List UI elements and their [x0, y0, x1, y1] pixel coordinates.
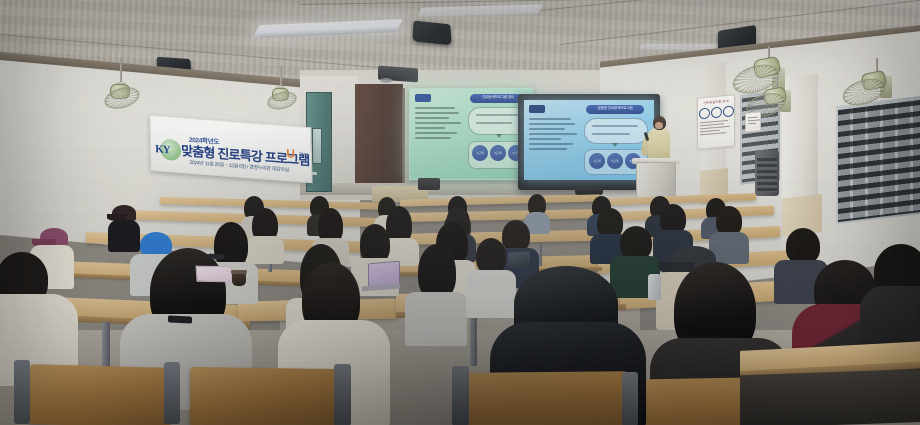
banner-content: KY 2024학년도 맞춤형 진로특강 프로그램 2024년 11월 25일 ~… [150, 116, 311, 182]
slide-badge [415, 94, 431, 102]
poster-line [748, 119, 760, 121]
slide-text-line [415, 127, 445, 129]
wall-panel-dark [355, 84, 403, 192]
fan-rod [280, 66, 282, 88]
slide-text-line [529, 128, 565, 130]
slide-rounded-box [584, 118, 648, 144]
person-torso [466, 270, 516, 318]
lecture-chair[interactable] [468, 371, 628, 425]
poster-circle-row [698, 105, 734, 119]
slide-step-label: 2단계 [490, 145, 506, 161]
smartphone [168, 315, 192, 323]
person-hair [476, 238, 506, 274]
poster-title: 진로취업지원 안내 [698, 98, 734, 105]
slide-text-line [529, 138, 561, 140]
slide-text-line [529, 143, 573, 145]
person-torso [405, 292, 467, 346]
slide-badge [529, 105, 545, 113]
desk-leg [102, 322, 110, 370]
slide-text-line [415, 132, 457, 134]
university-logo: KY [155, 138, 181, 164]
person-hair [620, 226, 652, 260]
slide-step-label: 1단계 [472, 145, 488, 161]
wall-fan [840, 58, 902, 110]
banner-accent-mark: U [286, 146, 295, 161]
laptop [508, 251, 530, 269]
lecture-hall-photo: 진로취업지원 안내 KY 2024학년도 맞춤형 진로특강 프로그램 202 [0, 0, 920, 425]
poster-line [748, 117, 758, 119]
slide-header-text: 진로탐색프로그램 개요 [472, 95, 524, 100]
slide-text-line [529, 118, 571, 120]
fan-rod [120, 58, 122, 84]
lecture-chair[interactable] [30, 364, 170, 425]
slide-box-line [592, 125, 638, 127]
slide-text-line [415, 122, 461, 124]
slide-arrow-icon [496, 134, 502, 138]
person-torso [246, 236, 284, 264]
slide-content-monitor: 맞춤형 진로탐색프로그램 1단계 2단계 3단계 [524, 100, 654, 180]
wall-sign-small [745, 111, 761, 132]
slide-text-line [415, 107, 455, 109]
lecture-desk [390, 209, 610, 223]
slide-box-line [476, 114, 520, 116]
desk-leg [470, 316, 477, 366]
ceiling-speaker [412, 21, 451, 46]
slide-text-line [529, 123, 575, 125]
poster-line [700, 132, 726, 135]
slide-header-text: 맞춤형 진로탐색프로그램 [588, 106, 642, 111]
projection-screen: 진로탐색프로그램 개요 1단계 2단계 3단계 [409, 88, 533, 180]
chair-armrest [14, 360, 30, 424]
smartphone [208, 253, 224, 259]
door-window [312, 128, 322, 164]
wall-fan [262, 66, 306, 108]
front-equipment-box [418, 178, 440, 190]
slide-text-line [529, 148, 567, 150]
chair-armrest [164, 362, 180, 424]
slide-text-column [415, 107, 463, 142]
poster-line [748, 123, 756, 125]
slide-text-line [415, 112, 459, 114]
slide-step-label: 2단계 [607, 153, 623, 169]
logo-text: KY [155, 143, 170, 156]
drink-cup-lid [231, 270, 247, 274]
slide-box-line [592, 133, 630, 135]
slide-step-circle: 2단계 [490, 145, 506, 161]
person-torso [108, 220, 140, 252]
slide-text-line [415, 117, 449, 119]
wall-fan [98, 58, 150, 106]
wall-poster-right: 진로취업지원 안내 [697, 94, 735, 149]
tv-monitor-screen: 맞춤형 진로탐색프로그램 1단계 2단계 3단계 [524, 100, 654, 180]
desk-underside [740, 369, 920, 425]
slide-arrow-icon [612, 143, 618, 147]
poster-circle-icon [699, 108, 710, 120]
slide-step-circle: 1단계 [472, 145, 488, 161]
slide-step-circle: 1단계 [589, 153, 605, 169]
drink-cup [232, 272, 246, 286]
chair-armrest [334, 364, 351, 425]
poster-circle-icon [723, 105, 734, 117]
slide-text-line [415, 137, 451, 139]
poster-line [700, 126, 730, 130]
av-equipment-rack [757, 158, 777, 192]
poster-circle-icon [711, 107, 722, 119]
window-blinds [838, 100, 920, 222]
projector-lens-icon [380, 78, 392, 83]
banner-right-mark: 경영 [299, 151, 308, 159]
lecture-chair[interactable] [190, 367, 340, 425]
papers [195, 266, 232, 283]
slide-text-column [529, 118, 579, 153]
slide-step-label: 1단계 [589, 153, 605, 169]
tumbler [648, 274, 661, 300]
person-hair [786, 228, 820, 264]
chair-armrest [452, 366, 469, 425]
presenter-face [655, 122, 663, 129]
slide-box-line [476, 122, 512, 124]
poster-body [698, 119, 734, 135]
slide-content-projection: 진로탐색프로그램 개요 1단계 2단계 3단계 [410, 89, 532, 179]
chair-armrest [622, 372, 638, 425]
slide-text-line [529, 133, 577, 135]
slide-step-circle: 2단계 [607, 153, 623, 169]
